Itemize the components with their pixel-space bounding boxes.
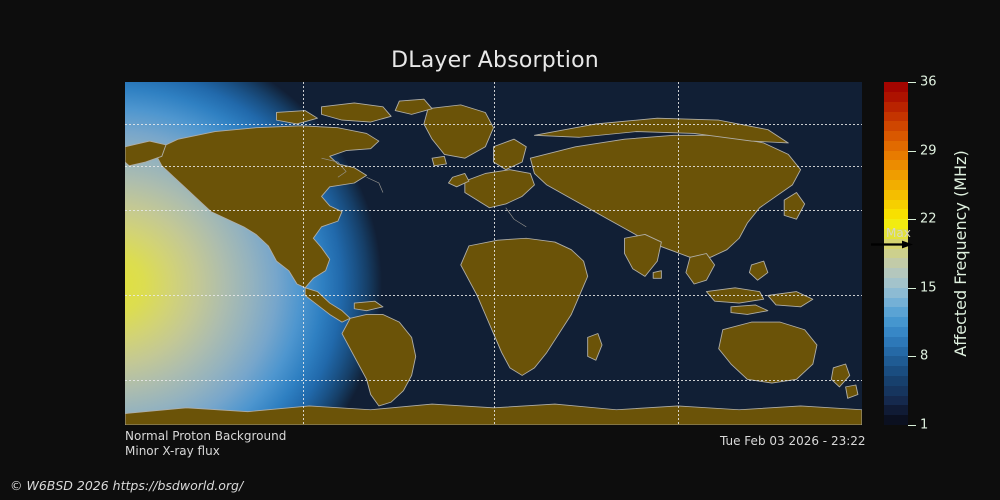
- colorbar-tick: [908, 151, 916, 152]
- colorbar-segment: [884, 200, 908, 210]
- colorbar-segment: [884, 317, 908, 327]
- copyright-notice: © W6BSD 2026 https://bsdworld.org/: [10, 478, 243, 493]
- colorbar-segment: [884, 131, 908, 141]
- colorbar-segment: [884, 180, 908, 190]
- map-canvas: [125, 82, 862, 425]
- status-proton-background: Normal Proton Background: [125, 429, 286, 444]
- colorbar-segment: [884, 112, 908, 122]
- colorbar-segment: [884, 141, 908, 151]
- status-xray-flux: Minor X-ray flux: [125, 444, 220, 459]
- colorbar-segment: [884, 405, 908, 415]
- colorbar-segment: [884, 190, 908, 200]
- colorbar-segment: [884, 396, 908, 406]
- timestamp: Tue Feb 03 2026 - 23:22: [720, 434, 866, 449]
- max-marker-label: Max: [886, 227, 911, 239]
- colorbar[interactable]: 1815222936: [884, 82, 908, 425]
- colorbar-segment: [884, 249, 908, 259]
- colorbar-max-marker: Max: [884, 244, 974, 245]
- page-title: DLayer Absorption: [0, 48, 990, 74]
- colorbar-segment: [884, 327, 908, 337]
- colorbar-segment: [884, 288, 908, 298]
- colorbar-tick: [908, 288, 916, 289]
- colorbar-segment: [884, 347, 908, 357]
- colorbar-gradient: [884, 82, 908, 425]
- colorbar-axis-label-text: Affected Frequency (MHz): [951, 82, 970, 425]
- colorbar-tick-label: 1: [920, 419, 928, 432]
- colorbar-segment: [884, 298, 908, 308]
- colorbar-tick: [908, 82, 916, 83]
- colorbar-segment: [884, 268, 908, 278]
- colorbar-segment: [884, 366, 908, 376]
- colorbar-segment: [884, 356, 908, 366]
- colorbar-segment: [884, 258, 908, 268]
- colorbar-tick: [908, 425, 916, 426]
- colorbar-segment: [884, 278, 908, 288]
- colorbar-segment: [884, 170, 908, 180]
- colorbar-segment: [884, 160, 908, 170]
- colorbar-tick-label: 8: [920, 350, 928, 363]
- right-arrow-icon: [870, 240, 914, 249]
- colorbar-segment: [884, 82, 908, 92]
- colorbar-segment: [884, 102, 908, 112]
- colorbar-tick: [908, 356, 916, 357]
- colorbar-axis-label: Affected Frequency (MHz): [933, 82, 953, 425]
- world-absorption-map[interactable]: [125, 82, 862, 425]
- colorbar-segment: [884, 386, 908, 396]
- colorbar-segment: [884, 121, 908, 131]
- colorbar-segment: [884, 376, 908, 386]
- colorbar-segment: [884, 337, 908, 347]
- colorbar-segment: [884, 415, 908, 425]
- colorbar-segment: [884, 209, 908, 219]
- colorbar-segment: [884, 307, 908, 317]
- colorbar-segment: [884, 151, 908, 161]
- colorbar-tick: [908, 219, 916, 220]
- colorbar-segment: [884, 92, 908, 102]
- dlayer-absorption-app: DLayer Absorption: [0, 0, 1000, 500]
